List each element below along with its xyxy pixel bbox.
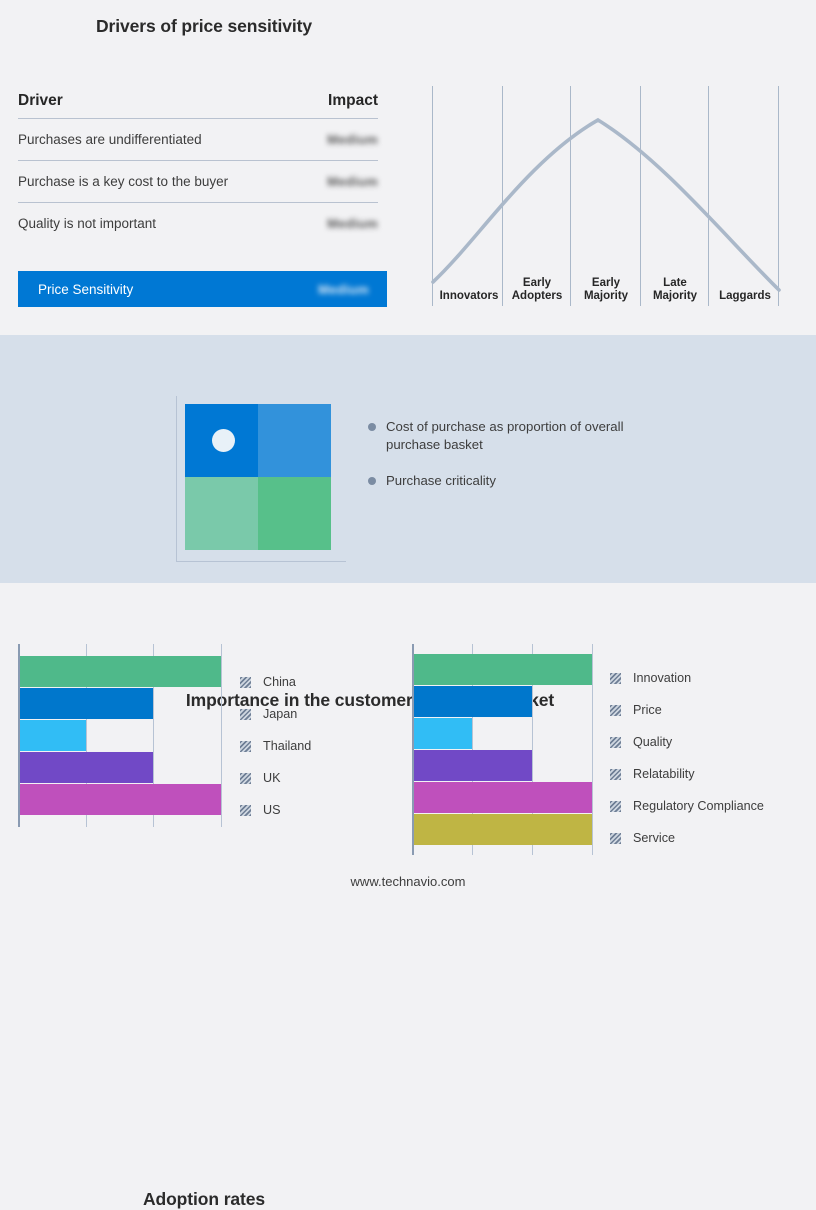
matrix-quadrant-bottom-right xyxy=(258,477,331,550)
legend-label: Japan xyxy=(263,707,297,721)
column-header-driver: Driver xyxy=(18,92,63,110)
lifecycle-stage-label-laggards: Laggards xyxy=(710,290,780,303)
hatch-swatch-icon xyxy=(240,677,251,688)
adoption-rates-plot-area xyxy=(18,644,221,827)
legend-label: Regulatory Compliance xyxy=(633,799,764,813)
column-header-impact: Impact xyxy=(328,92,378,110)
hatch-swatch-icon xyxy=(610,705,621,716)
chart-bar xyxy=(20,720,86,751)
chart-bar xyxy=(414,654,592,685)
legend-item: Thailand xyxy=(240,730,311,762)
adoption-rates-legend: ChinaJapanThailandUKUS xyxy=(240,666,311,826)
legend-label: Innovation xyxy=(633,671,691,685)
key-purchase-criteria-legend: InnovationPriceQualityRelatabilityRegula… xyxy=(610,662,764,854)
table-row: Purchase is a key cost to the buyer Medi… xyxy=(18,161,378,203)
legend-item: Innovation xyxy=(610,662,764,694)
drivers-table: Driver Impact Purchases are undifferenti… xyxy=(18,92,378,244)
legend-item: Relatability xyxy=(610,758,764,790)
matrix-axis-horizontal xyxy=(176,561,346,562)
matrix-position-marker-dot xyxy=(212,429,235,452)
legend-item: Quality xyxy=(610,726,764,758)
matrix-axis-vertical xyxy=(176,396,177,562)
matrix-quadrant-top-right xyxy=(258,404,331,477)
matrix-legend-label: Cost of purchase as proportion of overal… xyxy=(386,418,668,453)
legend-item: Japan xyxy=(240,698,311,730)
legend-item: China xyxy=(240,666,311,698)
adoption-rates-chart: ChinaJapanThailandUKUS xyxy=(18,644,408,859)
legend-item: UK xyxy=(240,762,311,794)
legend-label: UK xyxy=(263,771,281,785)
bullet-icon xyxy=(368,477,376,485)
adoption-lifecycle-chart xyxy=(408,60,808,310)
price-sensitivity-impact-value: Medium xyxy=(318,282,369,297)
chart-bar xyxy=(414,686,532,717)
price-sensitivity-highlight-row: Price Sensitivity Medium xyxy=(18,271,387,307)
legend-item: US xyxy=(240,794,311,826)
driver-name: Purchase is a key cost to the buyer xyxy=(18,174,228,189)
hatch-swatch-icon xyxy=(240,773,251,784)
lifecycle-stage-label-innovators: Innovators xyxy=(434,290,504,303)
lifecycle-stage-label-early-majority: EarlyMajority xyxy=(572,277,640,303)
legend-label: US xyxy=(263,803,281,817)
adoption-rates-title: Adoption rates xyxy=(0,1189,408,1210)
legend-label: Relatability xyxy=(633,767,695,781)
legend-item: Regulatory Compliance xyxy=(610,790,764,822)
chart-bar xyxy=(414,718,472,749)
footer-url: www.technavio.com xyxy=(0,874,816,889)
chart-bar xyxy=(414,814,592,845)
key-purchase-criteria-plot-area xyxy=(412,644,592,855)
adoption-bell-curve xyxy=(433,120,779,290)
table-row: Purchases are undifferentiated Medium xyxy=(18,119,378,161)
matrix-quadrant-grid xyxy=(185,404,331,550)
list-item: Purchase criticality xyxy=(368,472,668,490)
drivers-panel-title: Drivers of price sensitivity xyxy=(0,16,408,37)
panel-drivers-of-price-sensitivity: Drivers of price sensitivity Driver Impa… xyxy=(0,0,408,335)
hatch-swatch-icon xyxy=(240,709,251,720)
price-sensitivity-label: Price Sensitivity xyxy=(38,282,133,297)
lifecycle-stage-label-late-majority: LateMajority xyxy=(642,277,708,303)
lifecycle-divider-lines xyxy=(433,86,779,306)
impact-value: Medium xyxy=(327,216,378,231)
matrix-quadrant-bottom-left xyxy=(185,477,258,550)
chart-bar xyxy=(20,688,153,719)
drivers-table-header: Driver Impact xyxy=(18,92,378,119)
legend-label: China xyxy=(263,675,296,689)
hatch-swatch-icon xyxy=(240,805,251,816)
hatch-swatch-icon xyxy=(610,737,621,748)
impact-value: Medium xyxy=(327,132,378,147)
lifecycle-stage-label-early-adopters: EarlyAdopters xyxy=(504,277,570,303)
legend-item: Price xyxy=(610,694,764,726)
key-purchase-criteria-chart: InnovationPriceQualityRelatabilityRegula… xyxy=(412,644,812,859)
hatch-swatch-icon xyxy=(610,769,621,780)
table-row: Quality is not important Medium xyxy=(18,203,378,244)
chart-bar xyxy=(20,784,221,815)
legend-item: Service xyxy=(610,822,764,854)
legend-label: Thailand xyxy=(263,739,311,753)
legend-label: Service xyxy=(633,831,675,845)
legend-label: Price xyxy=(633,703,662,717)
hatch-swatch-icon xyxy=(610,801,621,812)
list-item: Cost of purchase as proportion of overal… xyxy=(368,418,668,453)
driver-name: Quality is not important xyxy=(18,216,156,231)
matrix-legend: Cost of purchase as proportion of overal… xyxy=(368,418,668,509)
chart-bar xyxy=(414,782,592,813)
chart-bar xyxy=(414,750,532,781)
chart-bar xyxy=(20,656,221,687)
driver-name: Purchases are undifferentiated xyxy=(18,132,202,147)
hatch-swatch-icon xyxy=(610,673,621,684)
chart-gridline xyxy=(592,644,593,855)
bullet-icon xyxy=(368,423,376,431)
impact-value: Medium xyxy=(327,174,378,189)
hatch-swatch-icon xyxy=(610,833,621,844)
legend-label: Quality xyxy=(633,735,672,749)
chart-gridline xyxy=(221,644,222,827)
hatch-swatch-icon xyxy=(240,741,251,752)
matrix-legend-label: Purchase criticality xyxy=(386,472,496,490)
chart-bar xyxy=(20,752,153,783)
